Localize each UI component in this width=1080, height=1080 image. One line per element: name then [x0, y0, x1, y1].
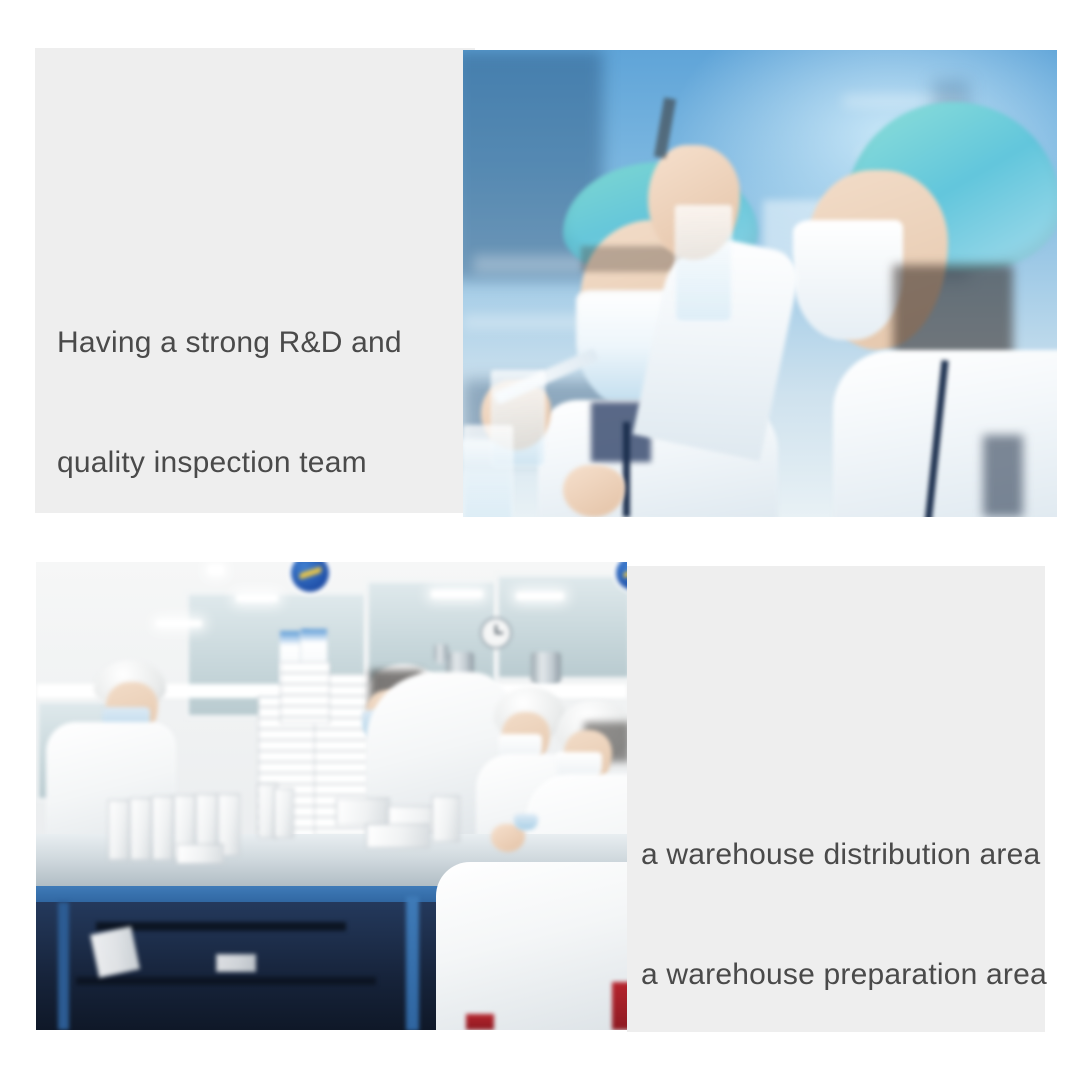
ceiling-light	[516, 592, 564, 600]
top-caption-line-2: quality inspection team	[57, 443, 477, 483]
carton-on-table	[108, 800, 130, 860]
glass-beaker	[675, 205, 732, 322]
carton-flat	[366, 824, 430, 848]
wall-clock	[480, 617, 512, 649]
carton-flat	[176, 844, 224, 864]
table-leg	[406, 896, 419, 1030]
carton-on-table	[130, 798, 152, 860]
steel-container	[531, 652, 561, 686]
carton-under-table	[90, 926, 140, 978]
ceiling-light	[208, 565, 224, 575]
coat-trim-left-worker	[623, 422, 630, 517]
carton-on-table	[152, 796, 174, 860]
bottom-caption-line-1: a warehouse distribution area	[641, 835, 1041, 875]
top-caption: Having a strong R&D and quality inspecti…	[57, 243, 477, 523]
lab-coat-skirt-foreground	[436, 862, 627, 1030]
bottom-caption: a warehouse distribution area a warehous…	[641, 755, 1041, 1035]
interior-window-right	[496, 574, 627, 680]
carton-flat	[336, 798, 390, 826]
ceiling-light	[431, 590, 483, 598]
warehouse-packing-area-photo	[36, 562, 627, 1030]
top-caption-line-1: Having a strong R&D and	[57, 323, 477, 363]
red-accent-small	[466, 1014, 494, 1030]
glass-beaker-table	[463, 425, 513, 517]
table-crossbar	[76, 977, 376, 985]
lab-equipment-right	[983, 435, 1023, 517]
blue-item-in-hand	[514, 814, 538, 830]
laboratory-quality-inspection-photo	[463, 50, 1057, 517]
carton-on-table	[432, 796, 460, 842]
face-mask-right-worker	[793, 220, 903, 340]
carton-stack	[280, 662, 330, 724]
table-leg	[58, 902, 69, 1030]
table-crossbar	[96, 922, 346, 931]
carton-under-table	[216, 954, 256, 972]
carton-on-table	[274, 788, 294, 838]
ceiling-light	[156, 620, 202, 627]
ceiling-light	[236, 594, 278, 602]
steel-valve	[434, 644, 448, 664]
bottom-caption-line-2: a warehouse preparation area	[641, 955, 1041, 995]
red-floor-accent	[612, 982, 627, 1030]
